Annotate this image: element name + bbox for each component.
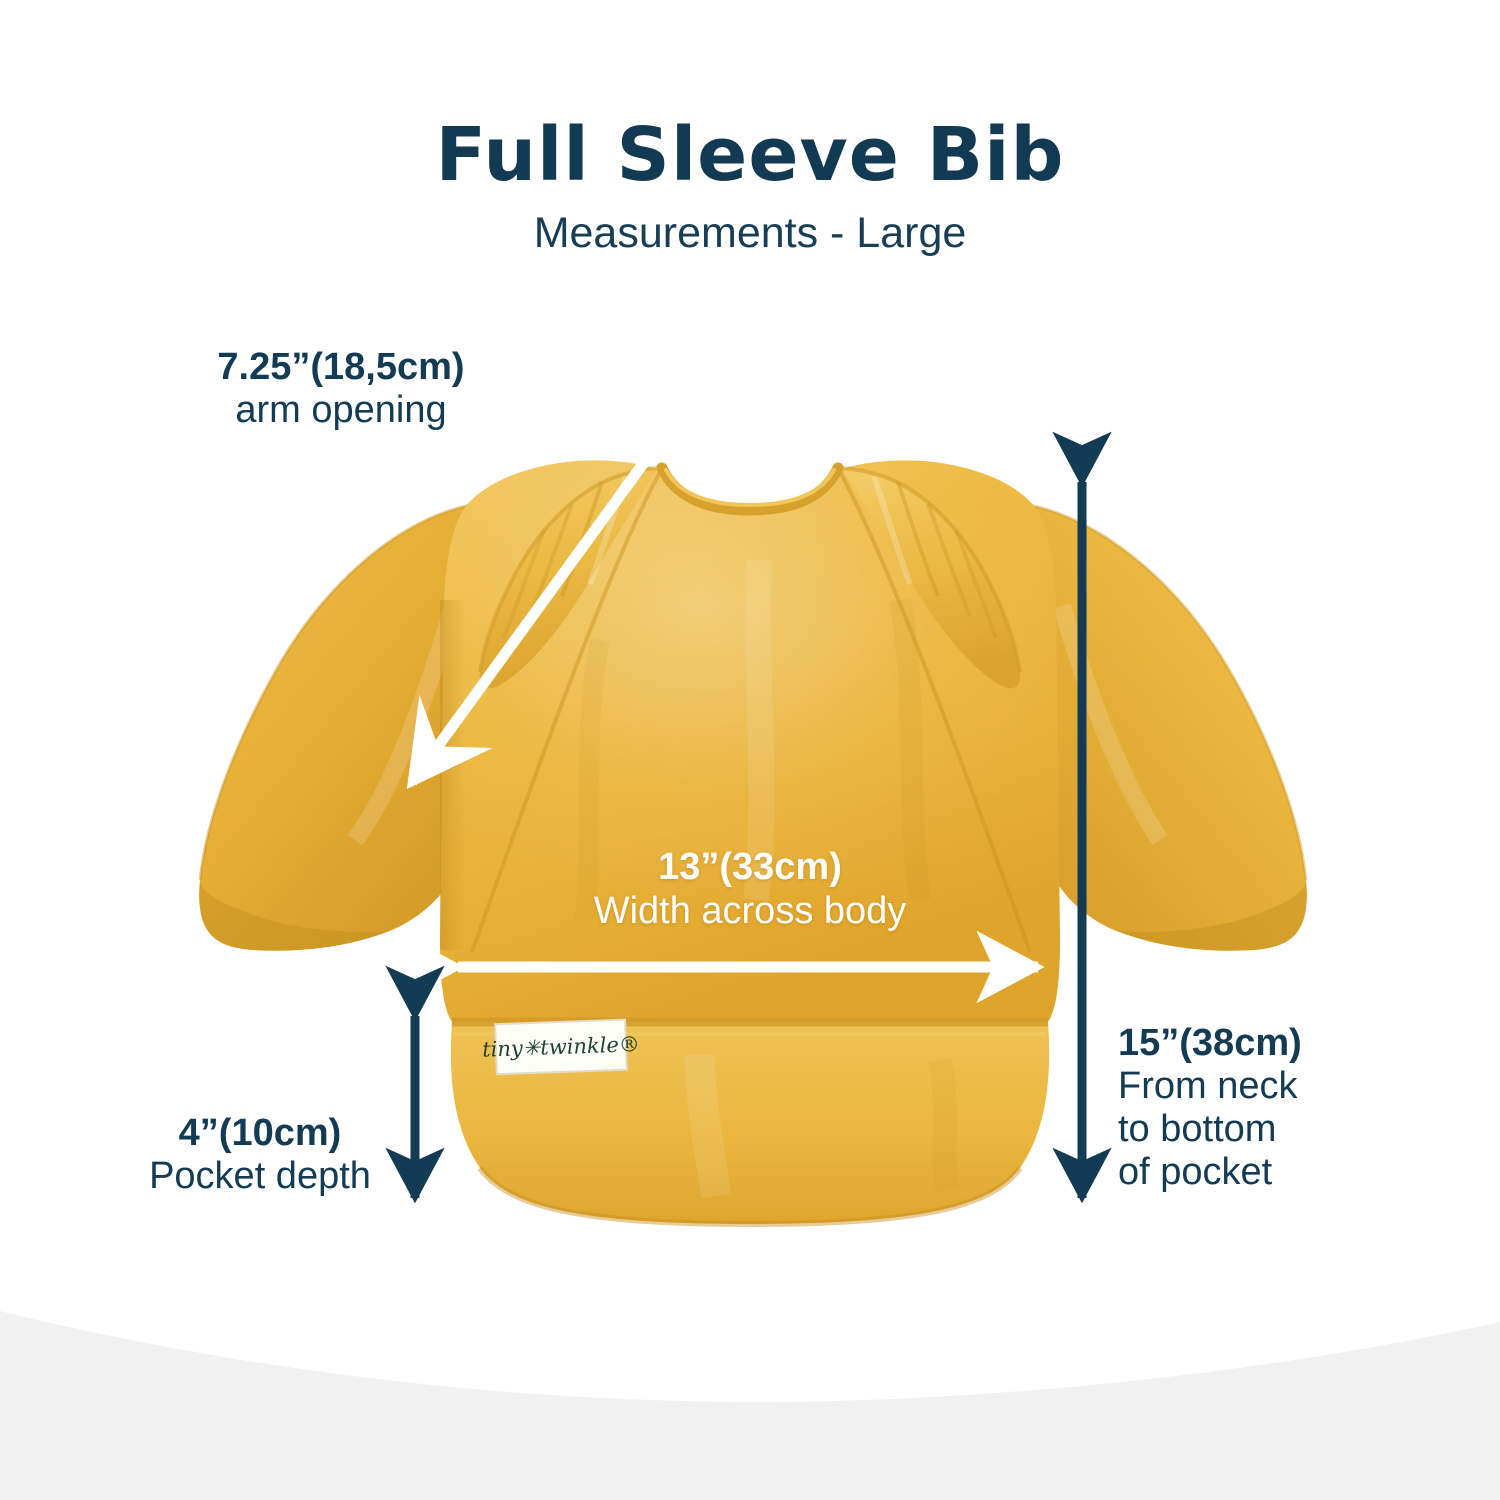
callout-neck-to-pocket: 15”(38cm) From neck to bottom of pocket	[1118, 1022, 1418, 1194]
width-across-body-description: Width across body	[470, 889, 1030, 933]
neck-to-pocket-value: 15”(38cm)	[1118, 1022, 1418, 1065]
neck-to-pocket-description-line-1: From neck	[1118, 1065, 1418, 1108]
neck-to-pocket-description-line-3: of pocket	[1118, 1151, 1418, 1194]
neck-to-pocket-description-line-2: to bottom	[1118, 1108, 1418, 1151]
measurement-diagram-page: Full Sleeve Bib Measurements - Large	[0, 0, 1500, 1500]
arm-opening-value: 7.25”(18,5cm)	[196, 346, 486, 389]
arm-opening-arrow	[412, 457, 648, 782]
arm-opening-description: arm opening	[196, 389, 486, 432]
pocket-depth-description: Pocket depth	[130, 1155, 390, 1198]
width-across-body-value: 13”(33cm)	[470, 845, 1030, 889]
callout-width-across-body: 13”(33cm) Width across body	[470, 845, 1030, 933]
callout-pocket-depth: 4”(10cm) Pocket depth	[130, 1112, 390, 1198]
measurement-arrows-layer	[0, 0, 1500, 1500]
pocket-depth-value: 4”(10cm)	[130, 1112, 390, 1155]
callout-arm-opening: 7.25”(18,5cm) arm opening	[196, 346, 486, 432]
